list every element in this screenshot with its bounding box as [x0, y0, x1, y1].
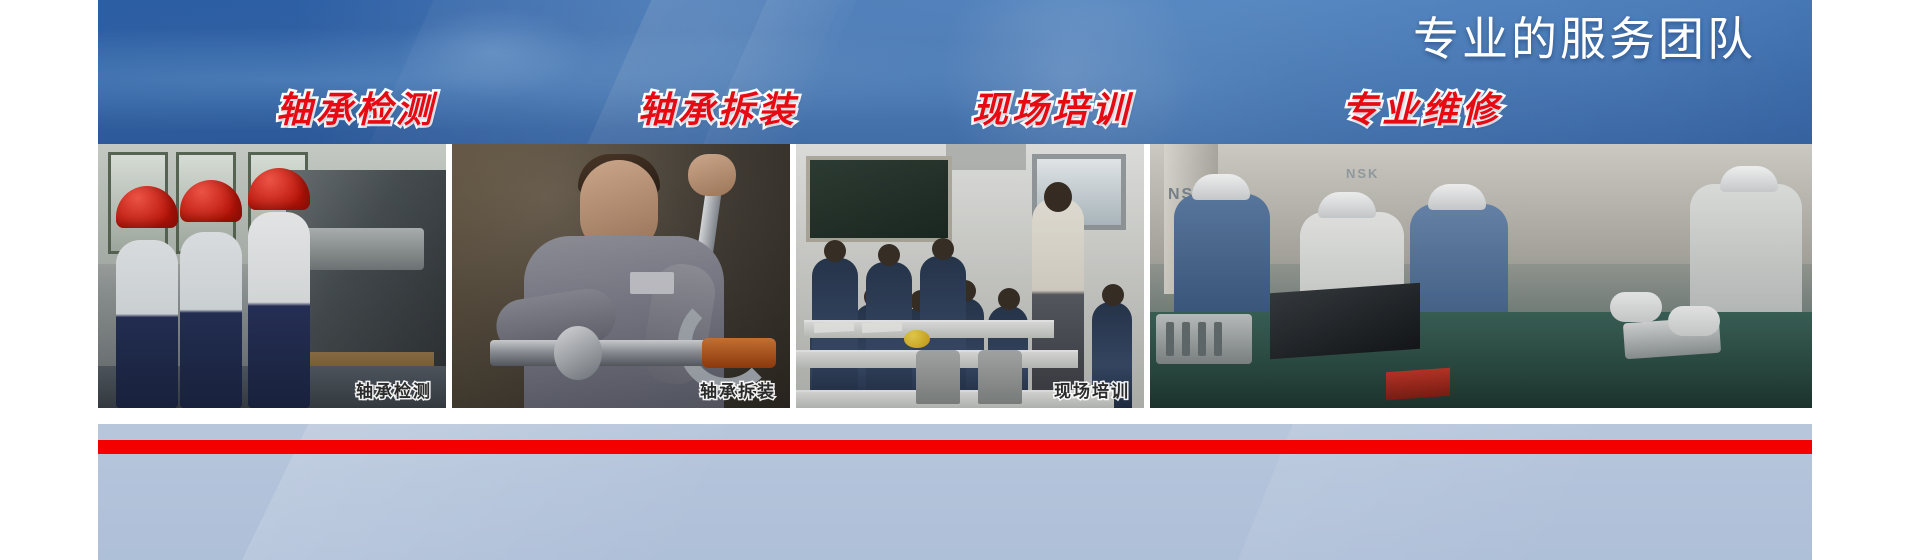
- white-glove-2: [1668, 306, 1720, 336]
- tool-copper-tip: [702, 338, 776, 368]
- instructor-head: [1044, 182, 1072, 212]
- service-label-professional-repair: 专业维修: [1342, 92, 1502, 128]
- worker-2: [180, 232, 242, 408]
- photo-bearing-inspection: 轴承检测: [98, 144, 446, 408]
- service-label-bearing-disassembly: 轴承拆装: [638, 92, 798, 128]
- page-title: 专业的服务团队: [1413, 16, 1756, 62]
- blackboard: [806, 156, 952, 242]
- handout-1: [814, 321, 854, 333]
- white-cap-2: [1318, 192, 1376, 218]
- band-sheen-1: [224, 416, 751, 560]
- photo-3-scene: [796, 144, 1144, 408]
- nsk-wordmark-secondary: NSK: [1346, 166, 1379, 181]
- page-right-margin: [1812, 0, 1920, 560]
- band-sheen-2: [1224, 416, 1621, 560]
- photo-caption-bearing-inspection: 轴承检测: [356, 377, 432, 402]
- trainee-front-head-2: [878, 244, 900, 266]
- white-cap-3: [1428, 184, 1486, 210]
- worker-3: [248, 212, 310, 408]
- ceiling-beam: [946, 144, 1026, 170]
- photo-1-scene: [98, 144, 446, 408]
- bearing-ring: [554, 326, 602, 380]
- trainee-front-head-3: [932, 238, 954, 260]
- red-mat: [1386, 368, 1450, 400]
- bottom-accent-band: [98, 416, 1812, 560]
- service-label-onsite-training: 现场培训: [972, 92, 1132, 128]
- photo-onsite-training: 现场培训: [796, 144, 1144, 408]
- equipment-case: [1270, 283, 1420, 359]
- classroom-chair-1: [916, 350, 960, 404]
- machine-component: [304, 228, 424, 270]
- photo-4-scene: NSK NSK: [1150, 144, 1812, 408]
- photo-professional-repair: NSK NSK: [1150, 144, 1812, 408]
- trainee-front-head-1: [824, 240, 846, 262]
- service-team-banner: 专业的服务团队 轴承检测 轴承拆装 现场培训 专业维修: [0, 0, 1920, 560]
- white-glove-1: [1610, 292, 1662, 322]
- white-cap-4: [1720, 166, 1778, 192]
- page-left-margin: [0, 0, 98, 560]
- handout-2: [862, 321, 902, 333]
- gripping-hand: [688, 154, 736, 196]
- tray-slot-1: [1166, 322, 1174, 356]
- white-cap-1: [1192, 174, 1250, 200]
- tray-slot-2: [1182, 322, 1190, 356]
- photo-bearing-disassembly: 轴承拆装: [452, 144, 790, 408]
- tray-slot-3: [1198, 322, 1206, 356]
- photo-caption-bearing-disassembly: 轴承拆装: [700, 377, 776, 402]
- yellow-training-aid: [904, 330, 930, 348]
- classroom-chair-2: [978, 350, 1022, 404]
- trainee-head-6: [1102, 284, 1124, 306]
- tray-slot-4: [1214, 322, 1222, 356]
- photo-caption-onsite-training: 现场培训: [1054, 377, 1130, 402]
- bearing-puller-shaft: [490, 340, 726, 366]
- hero-blue-band: 专业的服务团队 轴承检测 轴承拆装 现场培训 专业维修: [98, 0, 1812, 144]
- photo-2-scene: [452, 144, 790, 408]
- photo-strip: 轴承检测 轴承拆装: [98, 144, 1812, 408]
- uniform-badge: [630, 272, 674, 294]
- red-divider-rule: [98, 440, 1812, 454]
- worker-1: [116, 240, 178, 408]
- service-label-bearing-inspection: 轴承检测: [276, 92, 436, 128]
- trainee-head-5: [998, 288, 1020, 310]
